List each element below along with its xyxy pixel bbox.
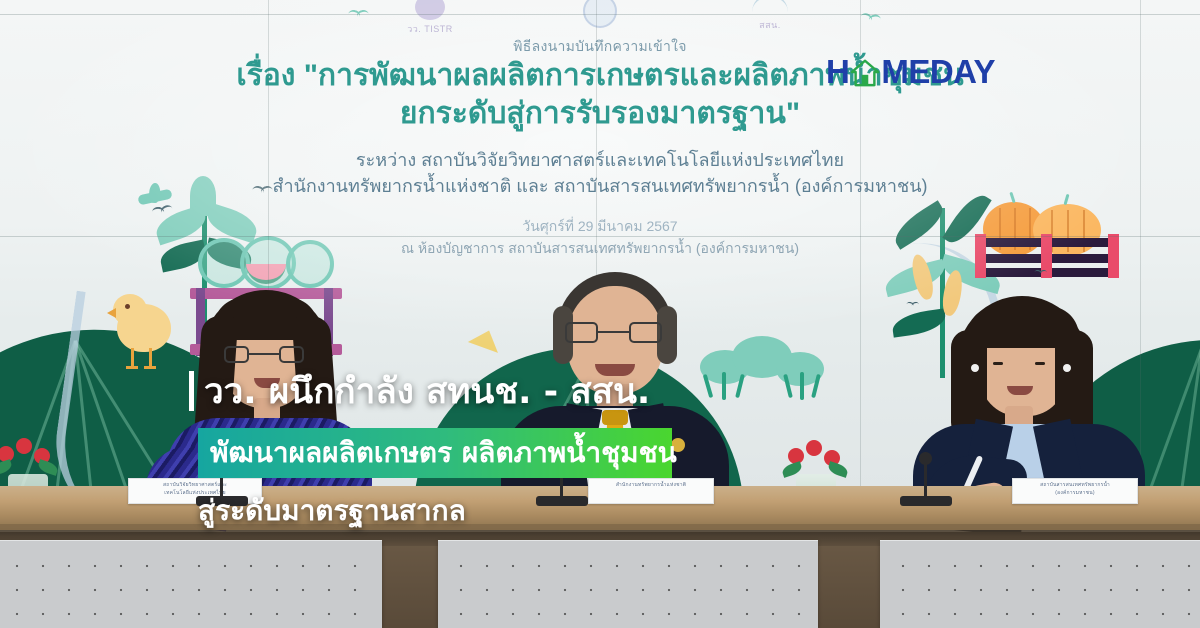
bird-icon [1034,270,1048,276]
homeday-logo[interactable]: H MEDAY [826,52,995,92]
logo-haii-label: สสน. [759,20,781,30]
logo-tistr: วว. TISTR [391,0,469,36]
backdrop-pretitle: พิธีลงนามบันทึกความเข้าใจ [0,38,1200,55]
pumpkin-crate-icon [975,196,1119,278]
logo-seal-onwr [561,0,639,36]
brand-text-part1: H [826,53,849,91]
title-accent-bar [189,371,194,411]
glasses-icon [224,346,308,364]
modesty-panel [0,540,382,628]
backdrop-parties-1: ระหว่าง สถาบันวิจัยวิทยาศาสตร์และเทคโนโล… [0,150,1200,172]
bird-icon [252,186,274,196]
modesty-panel [880,540,1200,628]
backdrop-heading-2: ยกระดับสู่การรับรองมาตรฐาน" [0,96,1200,133]
glasses-icon [565,322,665,344]
logo-haii: สสน. [731,0,809,36]
backdrop-heading-1: เรื่อง "การพัฒนาผลผลิตการเกษตรและผลิตภาพ… [0,58,1200,95]
house-icon [850,57,880,87]
logo-tistr-label: วว. TISTR [407,24,453,34]
placard-right-line2: (องค์การมหาชน) [1013,490,1137,498]
placard-center-line1: สำนักงานทรัพยากรน้ำแห่งชาติ [589,482,713,490]
placard-right-line1: สถาบันสารสนเทศทรัพยากรน้ำ [1013,482,1137,490]
placard-right: สถาบันสารสนเทศทรัพยากรน้ำ (องค์การมหาชน) [1012,478,1138,504]
backdrop-logos: วว. TISTR สสน. [0,0,1200,36]
modesty-panel [438,540,818,628]
placard-center: สำนักงานทรัพยากรน้ำแห่งชาติ [588,478,714,504]
headline-line-2: พัฒนาผลผลิตเกษตร ผลิตภาพน้ำชุมชน [198,428,672,478]
headline-line-3: สู่ระดับมาตรฐานสากล [198,489,466,533]
earring-icon [1063,364,1071,372]
earring-icon [971,364,979,372]
headline-highlight-bar: พัฒนาผลผลิตเกษตร ผลิตภาพน้ำชุมชน [198,428,672,478]
brand-text-part2: MEDAY [881,53,995,91]
news-banner: วว. TISTR สสน. พิธีลงนามบันทึกความเข้าใจ… [0,0,1200,628]
headline-line-1: วว. ผนึกกำลัง สทนช. - สสน. [204,364,650,419]
